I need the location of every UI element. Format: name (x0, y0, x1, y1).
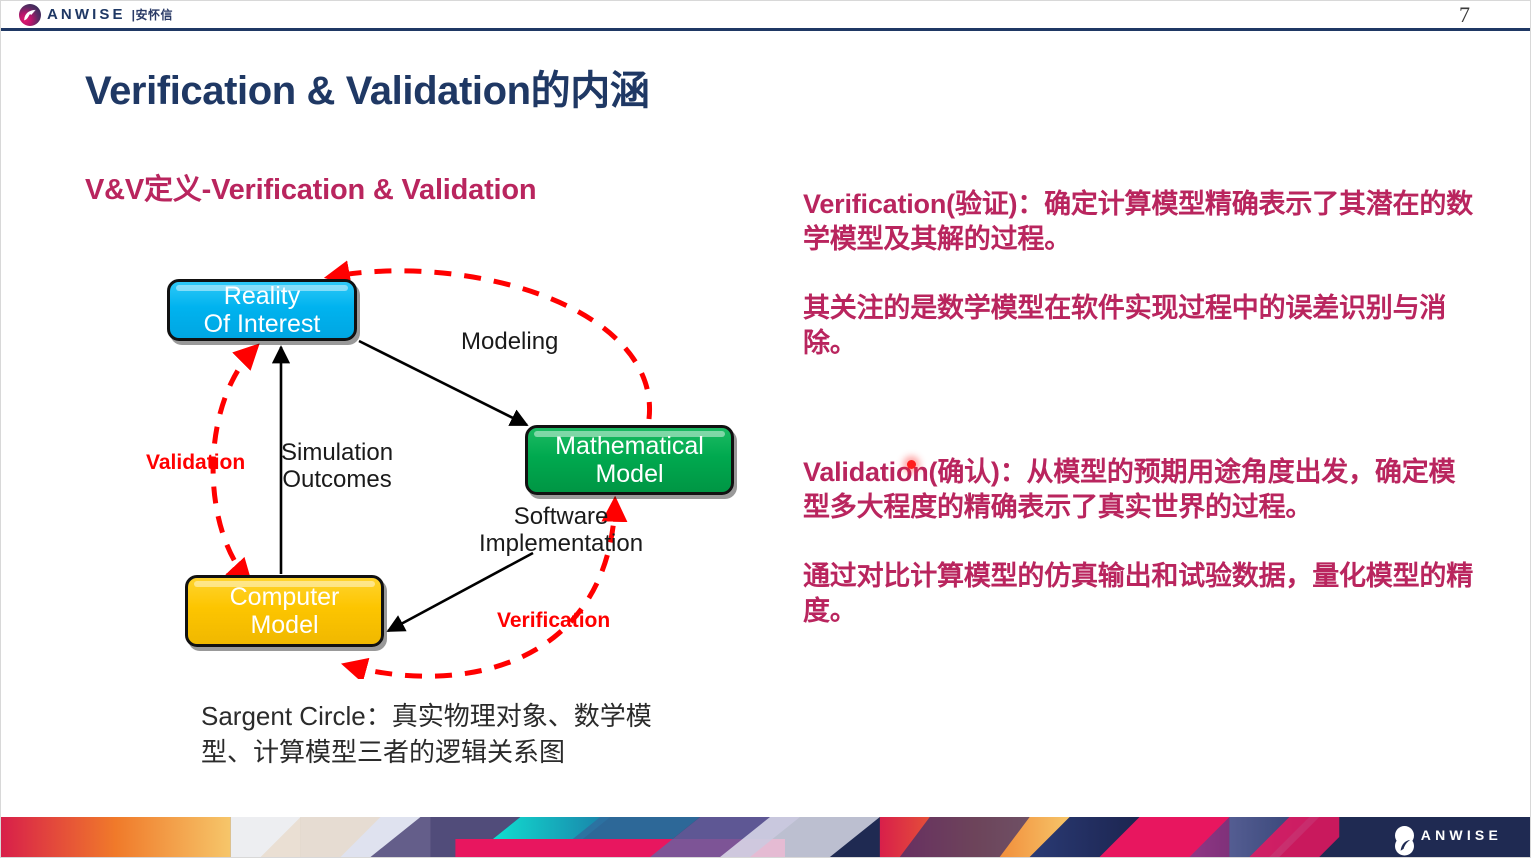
caption-line2: 型、计算模型三者的逻辑关系图 (201, 734, 741, 770)
anwise-circle-logo-icon (1395, 826, 1414, 845)
label-verification: Verification (497, 609, 610, 633)
edge-label-software-implementation: Software Implementation (479, 503, 643, 557)
page-number: 7 (1459, 2, 1470, 28)
edge-label-line1: Software (479, 503, 643, 530)
verification-definition-text: Verification(验证)：确定计算模型精确表示了其潜在的数学模型及其解的… (803, 187, 1473, 257)
laser-pointer-dot (907, 460, 916, 469)
sargent-circle-diagram: Reality Of Interest Mathematical Model C… (141, 229, 781, 679)
edge-label-modeling: Modeling (461, 328, 558, 355)
page-title: Verification & Validation的内涵 (85, 58, 649, 116)
verification-focus-text: 其关注的是数学模型在软件实现过程中的误差识别与消除。 (803, 291, 1473, 361)
diagram-caption: Sargent Circle：真实物理对象、数学模 型、计算模型三者的逻辑关系图 (201, 698, 741, 770)
edge-label-line2: Implementation (479, 530, 643, 557)
slide-header: ANWISE |安怀信 7 (1, 1, 1530, 28)
node-mathematical-model[interactable]: Mathematical Model (525, 425, 734, 495)
edge-label-simulation-outcomes: Simulation Outcomes (281, 439, 393, 493)
footer-brand-logo-text: ANWISE (1421, 826, 1502, 845)
anwise-circle-logo-icon (19, 4, 41, 26)
definitions-panel: Verification(验证)：确定计算模型精确表示了其潜在的数学模型及其解的… (803, 187, 1473, 629)
node-label-line1: Computer (230, 583, 340, 611)
node-label-line2: Model (250, 611, 318, 639)
node-computer-model[interactable]: Computer Model (185, 575, 384, 647)
brand-logo-text-cn: |安怀信 (132, 4, 173, 26)
node-label-line2: Model (595, 460, 663, 488)
brand-logo-text: ANWISE (47, 4, 126, 26)
slide-footer: ANWISE (1, 817, 1530, 857)
node-label-line1: Reality (224, 282, 300, 310)
caption-line1: Sargent Circle：真实物理对象、数学模 (201, 698, 741, 734)
edge-label-line2: Outcomes (281, 466, 393, 493)
header-divider (1, 28, 1530, 31)
validation-definition-text: Validation(确认)：从模型的预期用途角度出发，确定模型多大程度的精确表… (803, 455, 1473, 525)
footer-decorative-band (1, 817, 1530, 857)
node-label-line1: Mathematical (555, 432, 704, 460)
logo-swoosh-icon (23, 9, 37, 21)
slide-canvas: ANWISE |安怀信 7 Verification & Validation的… (0, 0, 1531, 858)
edge-label-line1: Simulation (281, 439, 393, 466)
footer-brand-logo: ANWISE (1395, 826, 1502, 845)
footer-logo-swoosh-icon (1395, 826, 1414, 857)
node-reality-of-interest[interactable]: Reality Of Interest (167, 279, 357, 341)
brand-logo: ANWISE |安怀信 (19, 4, 173, 26)
node-label-line2: Of Interest (204, 310, 321, 338)
validation-method-text: 通过对比计算模型的仿真输出和试验数据，量化模型的精度。 (803, 559, 1473, 629)
section-subtitle: V&V定义-Verification & Validation (85, 166, 536, 208)
label-validation: Validation (146, 451, 245, 475)
